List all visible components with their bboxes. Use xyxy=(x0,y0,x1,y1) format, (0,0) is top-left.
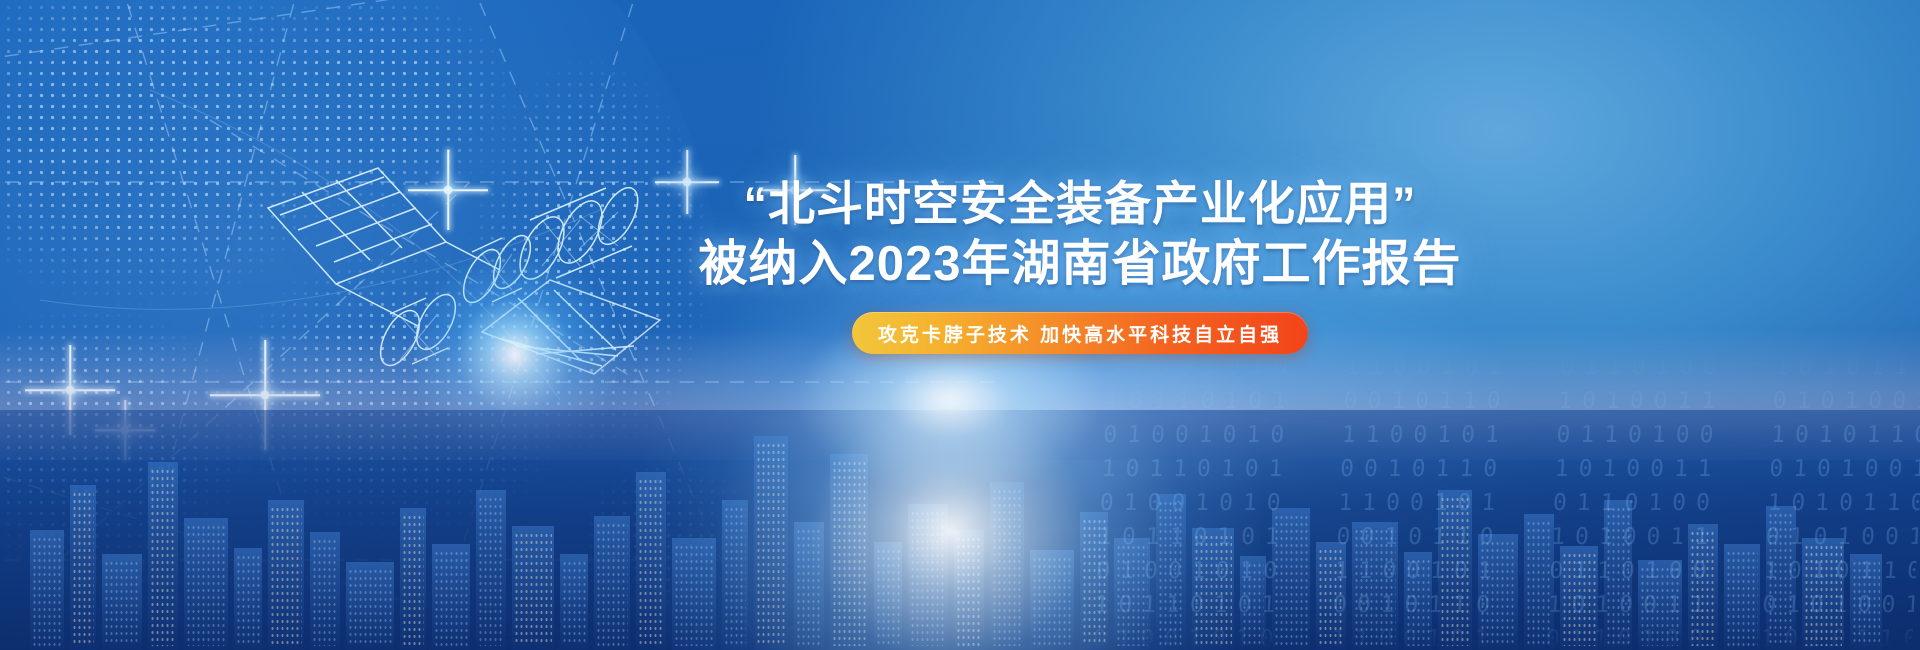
slogan-badge[interactable]: 攻克卡脖子技术 加快高水平科技自立自强 xyxy=(852,312,1308,354)
headline-line-1: “北斗时空安全装备产业化应用” xyxy=(640,176,1520,231)
banner-copy: “北斗时空安全装备产业化应用” 被纳入2023年湖南省政府工作报告 攻克卡脖子技… xyxy=(640,176,1520,354)
promo-banner: 01001010 1100101 0110100 10101101 010010… xyxy=(0,0,1920,650)
headline-line-2: 被纳入2023年湖南省政府工作报告 xyxy=(640,237,1520,292)
